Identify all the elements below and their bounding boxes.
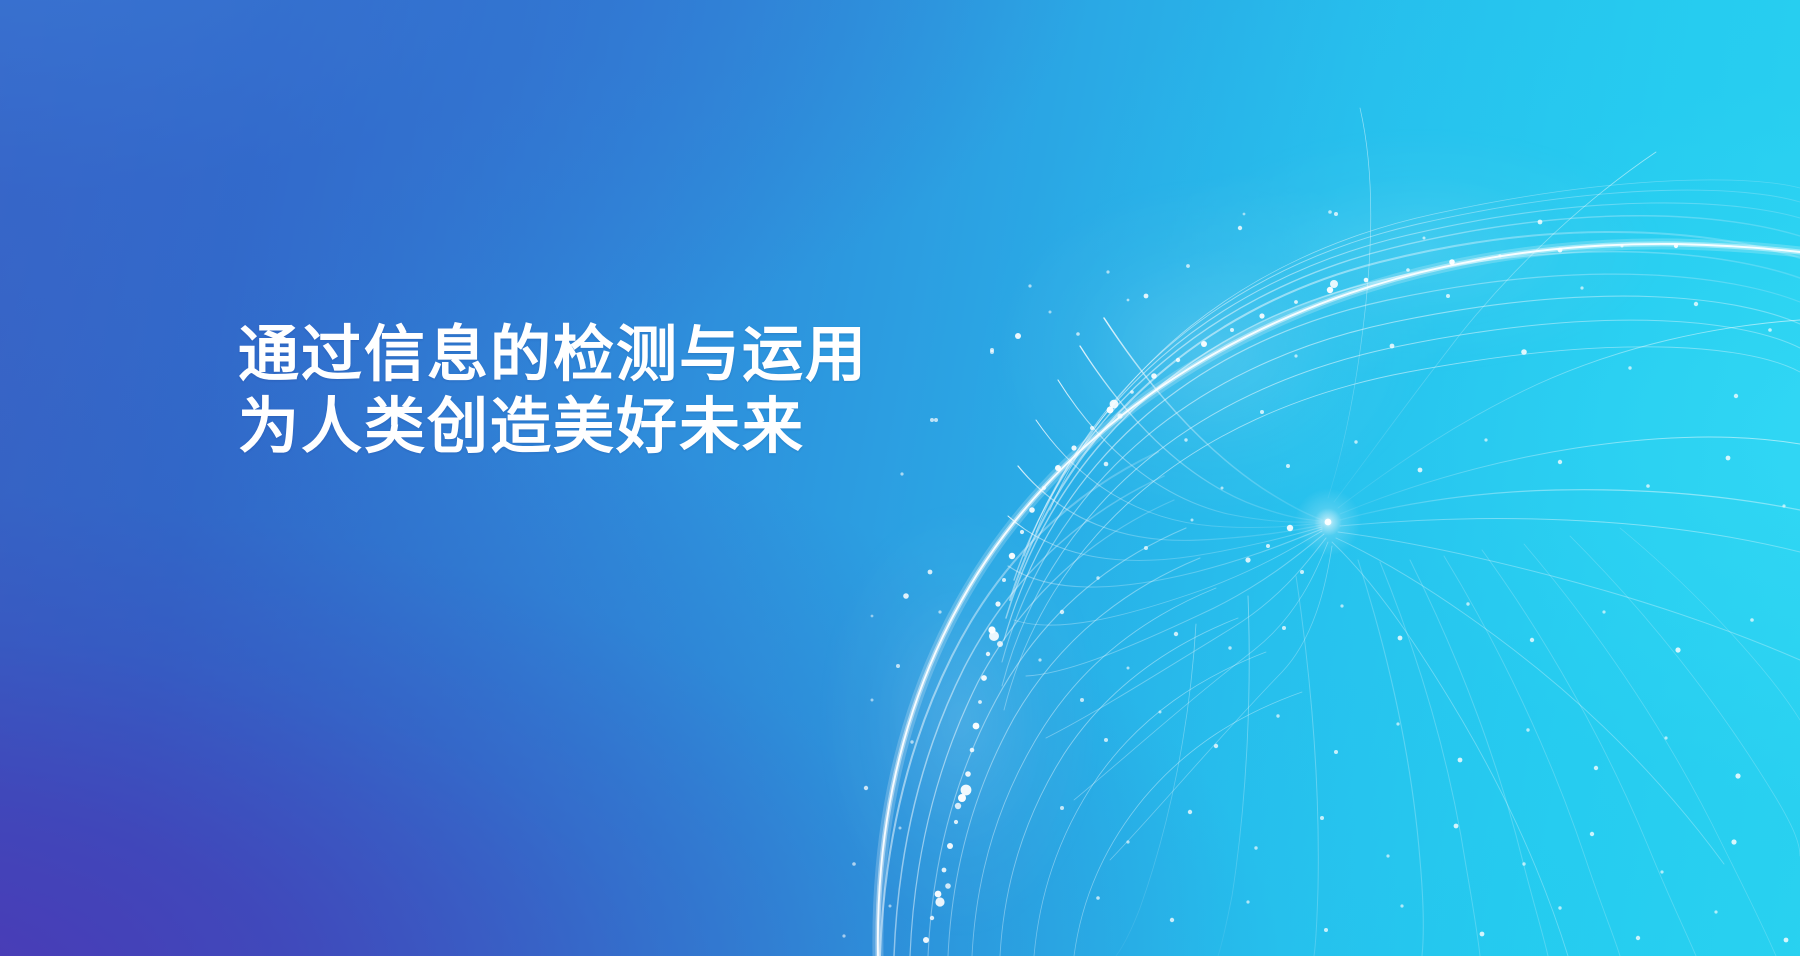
headline-line-1: 通过信息的检测与运用: [238, 318, 868, 390]
headline-line-2: 为人类创造美好未来: [238, 390, 868, 462]
headline: 通过信息的检测与运用 为人类创造美好未来: [238, 318, 868, 462]
background-cyan-glow: [0, 0, 1800, 956]
hero-banner: 通过信息的检测与运用 为人类创造美好未来: [0, 0, 1800, 956]
